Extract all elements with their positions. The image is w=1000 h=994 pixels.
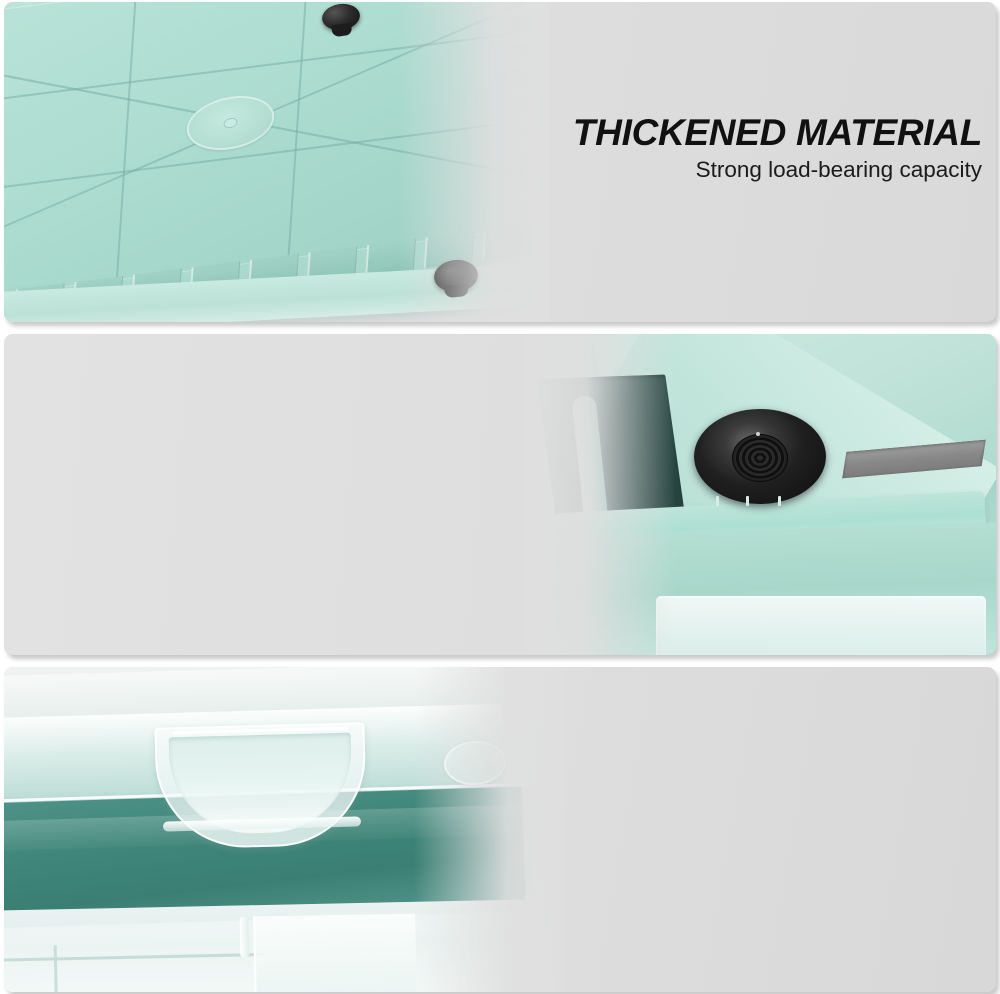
feature-panel-groove-overlay-design: GROOVE OVERLAY DESIGN Laminate is not ea… bbox=[4, 667, 996, 992]
mould-line-vertical bbox=[115, 2, 136, 281]
feature-subline: Strong load-bearing capacity bbox=[573, 158, 982, 183]
feature-panel-bottom-pulley-design: BOTTOM PULLEY DESIGN Easy to move bbox=[4, 334, 996, 655]
feature-headline: THICKENED MATERIAL bbox=[573, 114, 982, 153]
product-photo-groove-closeup bbox=[4, 667, 564, 992]
feature-caption-thickened-material: THICKENED MATERIAL Strong load-bearing c… bbox=[573, 114, 982, 183]
drawer-rib bbox=[4, 953, 264, 962]
clear-drawer-front bbox=[656, 596, 986, 655]
product-feature-infographic: THICKENED MATERIAL Strong load-bearing c… bbox=[0, 0, 1000, 994]
clip-prong bbox=[716, 496, 719, 506]
photo-fade bbox=[526, 334, 676, 655]
pulley-retaining-clip bbox=[716, 496, 782, 506]
divider-post bbox=[240, 917, 250, 957]
photo-fade bbox=[414, 667, 564, 992]
drawer-rib bbox=[54, 945, 58, 992]
feature-panel-thickened-material: THICKENED MATERIAL Strong load-bearing c… bbox=[4, 2, 996, 322]
clear-side-panel bbox=[253, 914, 417, 992]
product-photo-pulley-closeup bbox=[526, 334, 996, 655]
center-hub bbox=[185, 91, 276, 155]
clip-prong bbox=[778, 496, 781, 506]
product-photo-box-underside bbox=[4, 2, 549, 322]
pulley-hub bbox=[732, 434, 788, 482]
pulley-wheel-icon bbox=[694, 409, 826, 504]
clip-prong bbox=[746, 496, 749, 506]
pulley-pin bbox=[756, 432, 760, 436]
photo-fade bbox=[399, 2, 549, 322]
